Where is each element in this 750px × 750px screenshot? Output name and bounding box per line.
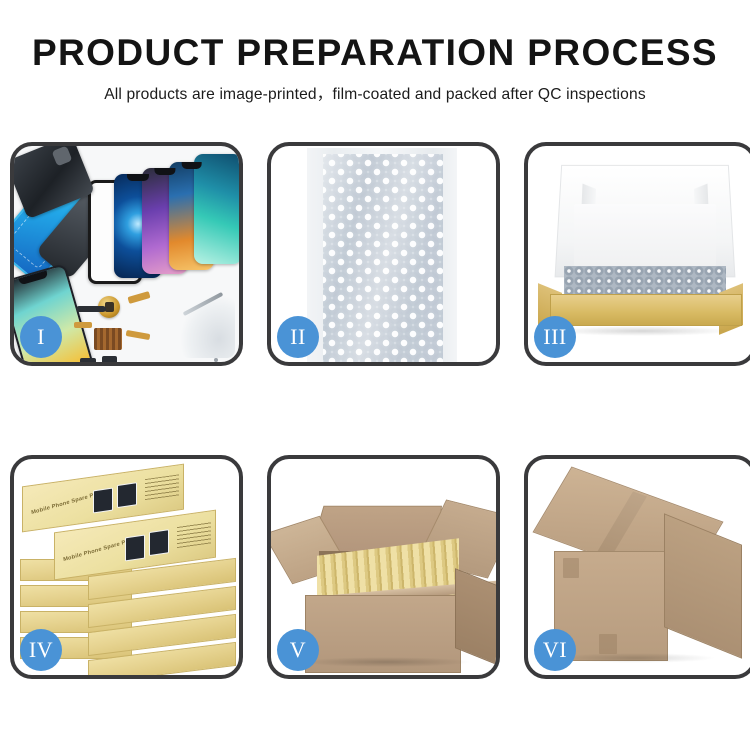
process-step-panel-2[interactable]: II	[267, 142, 500, 366]
screw-part	[214, 358, 218, 362]
carton-shadow	[301, 657, 471, 667]
notch-icon	[181, 162, 202, 169]
notch-icon	[154, 168, 175, 175]
carton-side-panel	[455, 568, 496, 666]
page-subtitle: All products are image-printed，film-coat…	[0, 82, 750, 104]
page-header: PRODUCT PREPARATION PROCESS All products…	[0, 0, 750, 104]
flex-cable-part	[126, 330, 151, 340]
flex-cable-part	[127, 291, 150, 304]
carton-shadow	[556, 653, 716, 663]
box-front-panel	[550, 294, 742, 326]
repair-tool	[181, 296, 235, 358]
camera-module-part	[80, 358, 96, 362]
step-badge-6: VI	[534, 629, 576, 671]
process-step-panel-1[interactable]: I	[10, 142, 243, 366]
foam-insert	[574, 204, 716, 266]
process-step-panel-3[interactable]: III	[524, 142, 750, 366]
process-step-panel-6[interactable]: VI	[524, 455, 750, 679]
process-step-panel-4[interactable]: Mobile Phone Spare Parts Mobile Phone Sp…	[10, 455, 243, 679]
process-step-grid: I II III	[10, 142, 740, 679]
screen-graphic	[93, 488, 113, 514]
screen-graphic	[117, 482, 137, 508]
step-badge-3: III	[534, 316, 576, 358]
flex-cable-part	[74, 322, 92, 328]
box-shadow	[552, 326, 732, 336]
carton-side-panel	[664, 513, 742, 659]
step-badge-4: IV	[20, 629, 62, 671]
process-step-panel-5[interactable]: V	[267, 455, 500, 679]
step-badge-1: I	[20, 316, 62, 358]
screen-graphic	[125, 535, 145, 562]
connector-part	[102, 356, 117, 362]
carton-marking	[599, 634, 617, 654]
carton-marking	[563, 558, 579, 578]
logic-board-chip	[94, 328, 122, 350]
step-badge-2: II	[277, 316, 319, 358]
phone-screen-teal	[194, 154, 239, 264]
step-badge-5: V	[277, 629, 319, 671]
notch-icon	[127, 174, 149, 181]
page-title: PRODUCT PREPARATION PROCESS	[0, 34, 750, 73]
earpiece-mesh-part	[76, 306, 106, 312]
screen-graphic	[149, 529, 169, 556]
bubble-wrap-gloss	[323, 154, 443, 362]
